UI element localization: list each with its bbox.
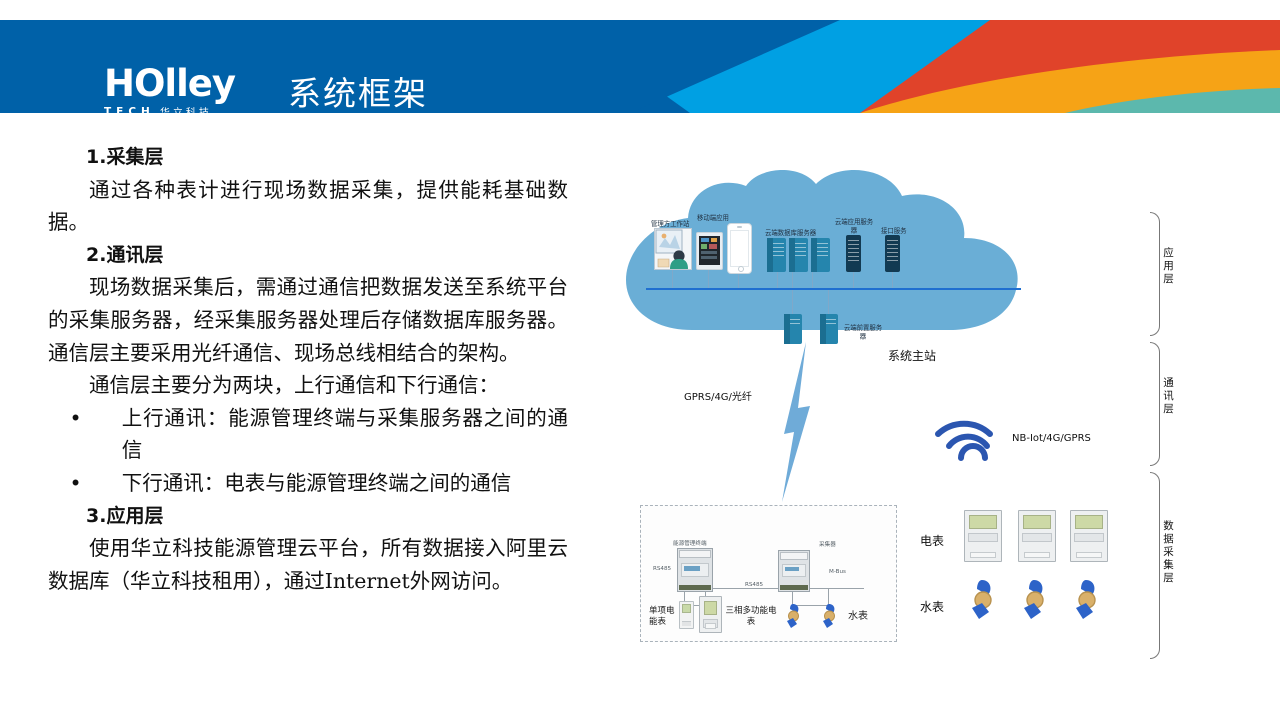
brace-communication-layer bbox=[1150, 342, 1160, 466]
system-architecture-diagram: 管理方工作站 移动端应用 云端数据库服务器 bbox=[600, 120, 1280, 700]
page-title: 系统框架 bbox=[288, 67, 428, 113]
section-heading-application: 3.应用层 bbox=[48, 500, 568, 533]
cloud-bus-line bbox=[646, 288, 1021, 290]
logo-wordmark: HOlley bbox=[104, 66, 269, 102]
label-three-phase-meter: 三相多功能电 表 bbox=[723, 606, 779, 628]
label-energy-terminal: 能源管理终端 bbox=[673, 539, 707, 547]
holley-logo: HOlley TECH 华立科技 bbox=[104, 66, 269, 113]
brace-char-comm-2: 讯 bbox=[1163, 390, 1174, 402]
water-meter-icon-box-1 bbox=[784, 602, 803, 630]
label-three-phase-line2: 表 bbox=[723, 617, 779, 628]
stem-api-service bbox=[892, 272, 893, 288]
label-workstation: 管理方工作站 bbox=[651, 219, 689, 228]
label-rs485-mid: RS485 bbox=[745, 582, 763, 588]
field-collection-box: 能源管理终端 采集器 RS485 RS485 M-Bus 单项电 能表 三相多功… bbox=[640, 505, 897, 642]
bullet-text-downlink: 下行通讯：电表与能源管理终端之间的通信 bbox=[122, 467, 568, 500]
bullet-marker-icon: • bbox=[70, 467, 122, 500]
label-single-phase-meter: 单项电 能表 bbox=[649, 606, 675, 628]
water-meter-icon-box-2 bbox=[820, 602, 839, 630]
bullet-item-uplink: • 上行通讯：能源管理终端与采集服务器之间的通信 bbox=[48, 402, 568, 467]
brace-char-app-2: 用 bbox=[1163, 260, 1174, 272]
brace-char-comm-1: 通 bbox=[1163, 377, 1174, 389]
body-text-column: 1.采集层 通过各种表计进行现场数据采集，提供能耗基础数据。 2.通讯层 现场数… bbox=[48, 141, 568, 597]
electric-meter-icon-3 bbox=[1070, 510, 1108, 562]
stem-app-server bbox=[853, 272, 854, 288]
stem-db-server-3 bbox=[812, 272, 813, 288]
lightning-bolt-icon bbox=[776, 342, 816, 502]
bullet-text-uplink: 上行通讯：能源管理终端与采集服务器之间的通信 bbox=[122, 402, 568, 467]
energy-management-terminal-icon bbox=[677, 548, 713, 592]
label-electric-meters: 电表 bbox=[920, 532, 944, 549]
brace-application-layer bbox=[1150, 212, 1160, 336]
app-server-icon bbox=[846, 235, 861, 272]
section-heading-communication: 2.通讯层 bbox=[48, 239, 568, 272]
db-server-icon-1 bbox=[767, 238, 786, 272]
label-single-phase-line1: 单项电 bbox=[649, 606, 675, 617]
paragraph-communication: 现场数据采集后，需通过通信把数据发送至系统平台的采集服务器，经采集服务器处理后存… bbox=[48, 271, 568, 369]
logo-chinese-text: 华立科技 bbox=[160, 104, 212, 113]
brace-char-comm-3: 层 bbox=[1163, 403, 1174, 415]
brace-char-data-5: 层 bbox=[1163, 572, 1174, 584]
section-heading-collection: 1.采集层 bbox=[48, 141, 568, 174]
label-master-station: 系统主站 bbox=[888, 347, 936, 364]
page-header: HOlley TECH 华立科技 系统框架 bbox=[0, 20, 1280, 113]
db-server-icon-3 bbox=[811, 238, 830, 272]
label-db-server: 云端数据库服务器 bbox=[765, 228, 816, 237]
brace-char-app-1: 应 bbox=[1163, 247, 1174, 259]
bullet-item-downlink: • 下行通讯：电表与能源管理终端之间的通信 bbox=[48, 467, 568, 500]
label-app-server: 云端应用服务器 bbox=[832, 219, 876, 235]
brace-char-data-2: 据 bbox=[1163, 533, 1174, 545]
label-collector: 采集器 bbox=[819, 540, 836, 548]
paragraph-application: 使用华立科技能源管理云平台，所有数据接入阿里云数据库（华立科技租用），通过Int… bbox=[48, 532, 568, 597]
smartphone-icon bbox=[727, 223, 752, 274]
label-data-collection-layer: 数 据 采 集 层 bbox=[1162, 520, 1175, 585]
db-server-icon-2 bbox=[789, 238, 808, 272]
front-server-icon-2 bbox=[820, 314, 838, 344]
label-single-phase-line2: 能表 bbox=[649, 617, 675, 628]
label-rs485-left: RS485 bbox=[653, 566, 671, 572]
three-phase-meter-icon bbox=[699, 596, 722, 633]
stem-db-server-1 bbox=[777, 272, 778, 288]
stem-front-server-2 bbox=[828, 290, 829, 314]
label-water-meter-box: 水表 bbox=[848, 611, 868, 622]
brace-char-data-4: 集 bbox=[1163, 559, 1174, 571]
label-api-service: 接口服务 bbox=[881, 226, 907, 235]
stem-db-server-2 bbox=[792, 272, 793, 288]
paragraph-communication-split: 通信层主要分为两块，上行通信和下行通信： bbox=[48, 369, 568, 402]
paragraph-collection: 通过各种表计进行现场数据采集，提供能耗基础数据。 bbox=[48, 174, 568, 239]
bullet-marker-icon: • bbox=[70, 402, 122, 467]
wifi-signal-icon bbox=[934, 416, 996, 466]
tablet-icon bbox=[696, 232, 723, 270]
label-application-layer: 应 用 层 bbox=[1162, 247, 1175, 286]
electric-meter-icon-1 bbox=[964, 510, 1002, 562]
brace-char-data-1: 数 bbox=[1163, 520, 1174, 532]
label-communication-layer: 通 讯 层 bbox=[1162, 377, 1175, 416]
workstation-icon bbox=[654, 228, 692, 270]
electric-meter-icon-2 bbox=[1018, 510, 1056, 562]
api-service-icon bbox=[885, 235, 900, 272]
logo-tech-text: TECH bbox=[104, 106, 155, 114]
stem-front-server-1 bbox=[792, 290, 793, 314]
water-meter-icon-1 bbox=[968, 578, 998, 622]
water-meter-icon-3 bbox=[1072, 578, 1102, 622]
brace-data-collection-layer bbox=[1150, 472, 1160, 659]
label-wireless-media: NB-Iot/4G/GPRS bbox=[1012, 433, 1091, 444]
collector-icon bbox=[778, 550, 810, 592]
label-water-meters: 水表 bbox=[920, 598, 944, 615]
brace-char-app-3: 层 bbox=[1163, 273, 1174, 285]
header-decoration-graphic bbox=[560, 20, 1280, 113]
brace-char-data-3: 采 bbox=[1163, 546, 1174, 558]
front-server-icon-1 bbox=[784, 314, 802, 344]
stem-phone bbox=[738, 272, 739, 288]
label-mobile-app: 移动端应用 bbox=[697, 213, 729, 222]
water-meter-icon-2 bbox=[1020, 578, 1050, 622]
label-three-phase-line1: 三相多功能电 bbox=[723, 606, 779, 617]
stem-tablet bbox=[708, 268, 709, 288]
label-mbus: M-Bus bbox=[829, 569, 846, 575]
single-phase-meter-icon bbox=[679, 601, 694, 629]
label-front-server: 云端前置服务器 bbox=[842, 325, 884, 341]
label-uplink-media: GPRS/4G/光纤 bbox=[684, 388, 752, 403]
logo-subtext: TECH 华立科技 bbox=[104, 104, 269, 113]
